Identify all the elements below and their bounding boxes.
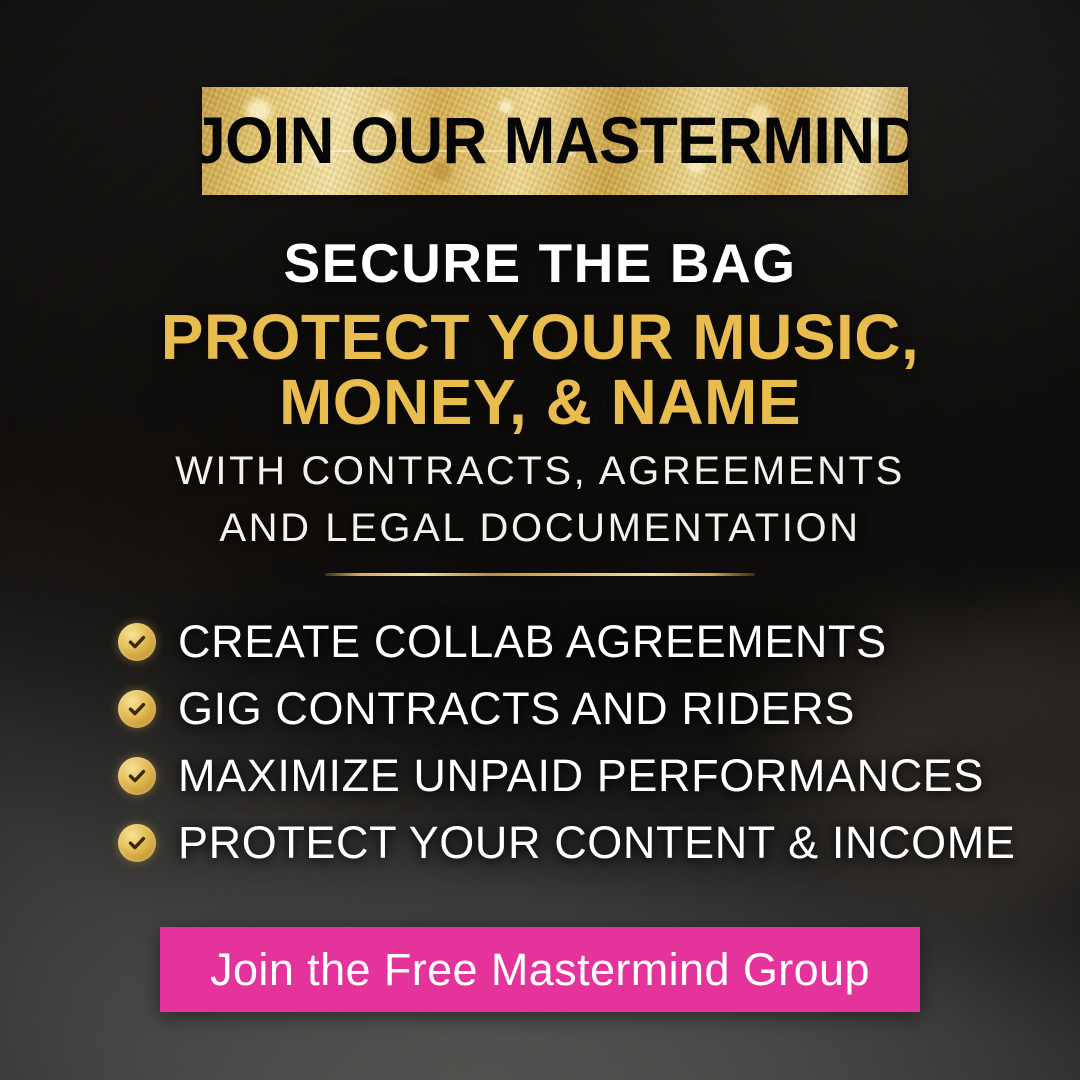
check-circle-icon	[118, 690, 156, 728]
check-circle-icon	[118, 824, 156, 862]
list-item: MAXIMIZE UNPAID PERFORMANCES	[118, 742, 1040, 809]
banner-label: JOIN OUR MASTERMIND	[202, 103, 908, 178]
benefits-list: CREATE COLLAB AGREEMENTS GIG CONTRACTS A…	[118, 608, 1040, 876]
benefit-label: MAXIMIZE UNPAID PERFORMANCES	[178, 750, 984, 802]
list-item: CREATE COLLAB AGREEMENTS	[118, 608, 1040, 675]
subtitle-line2: AND LEGAL DOCUMENTATION	[0, 500, 1080, 557]
promo-poster: JOIN OUR MASTERMIND SECURE THE BAG PROTE…	[0, 0, 1080, 1080]
subtitle-line1: WITH CONTRACTS, AGREEMENTS	[0, 443, 1080, 500]
benefit-label: PROTECT YOUR CONTENT & INCOME	[178, 817, 1016, 869]
poster-content: JOIN OUR MASTERMIND SECURE THE BAG PROTE…	[0, 0, 1080, 1080]
mastermind-banner: JOIN OUR MASTERMIND	[202, 87, 908, 195]
gold-divider	[325, 573, 755, 576]
check-circle-icon	[118, 623, 156, 661]
headline-main: PROTECT YOUR MUSIC, MONEY, & NAME	[0, 305, 1080, 436]
list-item: PROTECT YOUR CONTENT & INCOME	[118, 809, 1040, 876]
headline-subtitle: WITH CONTRACTS, AGREEMENTS AND LEGAL DOC…	[0, 443, 1080, 557]
benefit-label: GIG CONTRACTS AND RIDERS	[178, 683, 855, 735]
headline-main-line2: MONEY, & NAME	[0, 370, 1080, 435]
benefit-label: CREATE COLLAB AGREEMENTS	[178, 616, 887, 668]
headline-kicker: SECURE THE BAG	[0, 231, 1080, 295]
join-mastermind-button[interactable]: Join the Free Mastermind Group	[160, 927, 920, 1012]
list-item: GIG CONTRACTS AND RIDERS	[118, 675, 1040, 742]
cta-label: Join the Free Mastermind Group	[210, 944, 870, 996]
check-circle-icon	[118, 757, 156, 795]
headline-main-line1: PROTECT YOUR MUSIC,	[0, 305, 1080, 370]
